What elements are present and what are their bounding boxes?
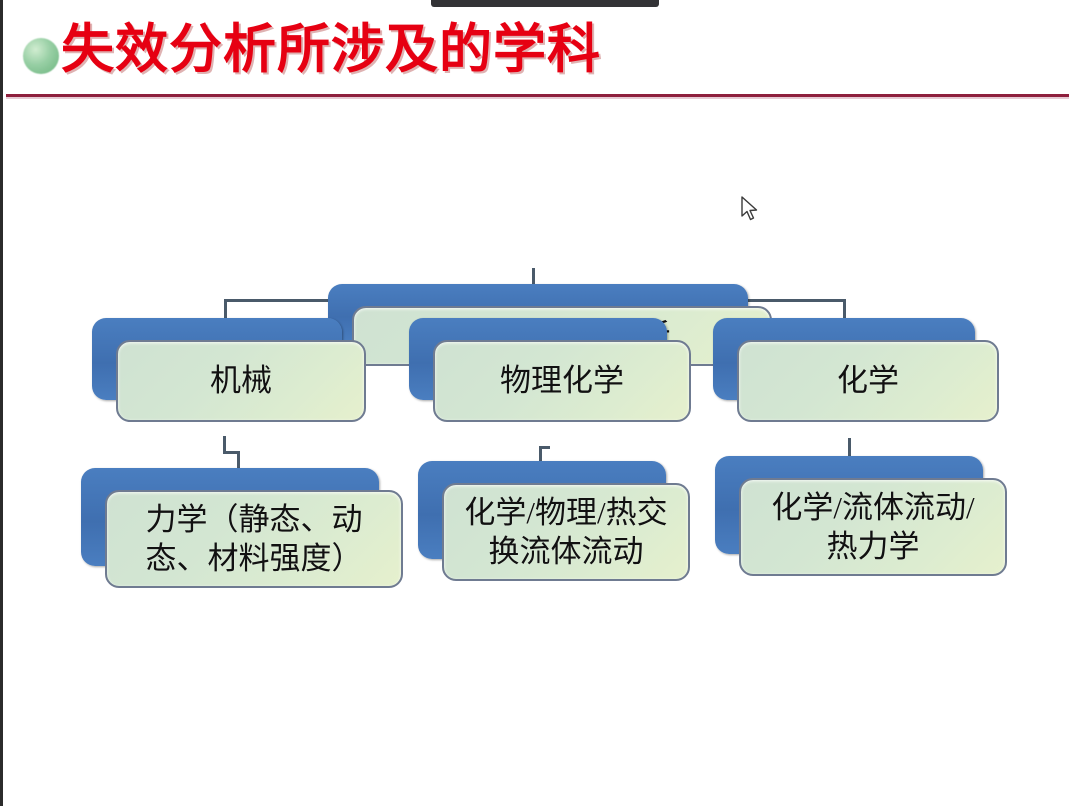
- node-label: 化学: [827, 361, 909, 400]
- node-level2-chemistry[interactable]: 化学: [713, 318, 975, 400]
- slide-header: 失效分析所涉及的学科: [3, 0, 1080, 98]
- node-level2-physical-chemistry[interactable]: 物理化学: [409, 318, 667, 400]
- node-face: 力学（静态、动 态、材料强度）: [105, 490, 403, 588]
- node-label: 化学/物理/热交 换流体流动: [454, 493, 677, 571]
- page-title: 失效分析所涉及的学科: [61, 20, 601, 81]
- node-face: 物理化学: [433, 340, 691, 422]
- node-label: 物理化学: [490, 361, 634, 400]
- node-face: 机械: [116, 340, 366, 422]
- node-face: 化学: [737, 340, 999, 422]
- node-level3-heat-exchange-flow[interactable]: 化学/物理/热交 换流体流动: [418, 461, 666, 559]
- node-label: 力学（静态、动 态、材料强度）: [136, 500, 373, 578]
- connector-center-jog-mid: [539, 446, 550, 449]
- connector-left-jog-lower: [237, 451, 240, 468]
- slide-canvas: 失效分析所涉及的学科 材料的失效分析 机械: [0, 0, 1080, 806]
- org-chart: 材料的失效分析 机械 物理化学 化学 力学（静态、动 态、材: [3, 98, 1080, 806]
- node-level2-mechanical[interactable]: 机械: [92, 318, 342, 400]
- node-face: 化学/流体流动/ 热力学: [739, 478, 1007, 576]
- node-level3-thermodynamics[interactable]: 化学/流体流动/ 热力学: [715, 456, 983, 554]
- node-label: 机械: [200, 361, 282, 400]
- node-face: 化学/物理/热交 换流体流动: [442, 483, 690, 581]
- header-divider: [6, 94, 1069, 97]
- node-label: 化学/流体流动/ 热力学: [761, 488, 984, 566]
- node-level3-mechanics[interactable]: 力学（静态、动 态、材料强度）: [81, 468, 379, 566]
- green-circle-bullet-icon: [23, 38, 59, 74]
